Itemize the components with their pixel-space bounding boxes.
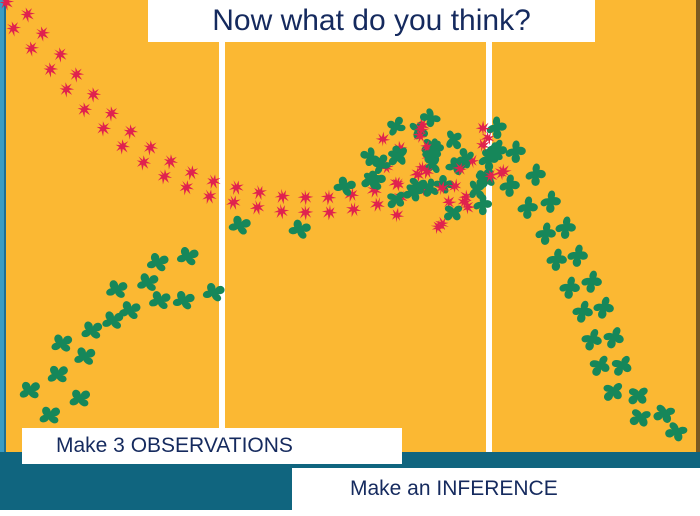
green-footprint xyxy=(40,356,76,392)
red-footprint xyxy=(0,0,18,14)
red-footprint xyxy=(320,203,339,222)
green-footprint xyxy=(62,380,98,416)
title-banner: Now what do you think? xyxy=(148,0,595,42)
slide-canvas: Now what do you think? Make 3 OBSERVATIO… xyxy=(0,0,700,516)
observations-prompt-banner: Make 3 OBSERVATIONS xyxy=(22,428,402,464)
footprint-track-layer xyxy=(0,0,700,452)
green-footprint xyxy=(577,267,608,298)
green-footprint xyxy=(171,239,204,272)
red-footprint xyxy=(343,199,364,220)
green-footprint xyxy=(551,213,580,242)
green-footprint xyxy=(416,104,443,131)
bottom-edge-strip xyxy=(0,510,700,516)
red-footprint xyxy=(428,217,447,236)
inference-prompt-label: Make an INFERENCE xyxy=(350,477,558,501)
observations-prompt-label: Make 3 OBSERVATIONS xyxy=(56,434,293,458)
green-footprint xyxy=(12,372,48,408)
green-footprint xyxy=(563,241,593,271)
green-footprint xyxy=(522,161,550,189)
green-footprint xyxy=(168,284,201,317)
green-footprint xyxy=(597,321,631,355)
green-footprint xyxy=(537,188,566,217)
red-footprint xyxy=(374,130,391,147)
green-footprint xyxy=(198,276,231,309)
green-footprint xyxy=(285,214,316,245)
page-title: Now what do you think? xyxy=(212,4,531,38)
green-footprint xyxy=(661,417,692,448)
inference-prompt-banner: Make an INFERENCE xyxy=(292,468,700,510)
